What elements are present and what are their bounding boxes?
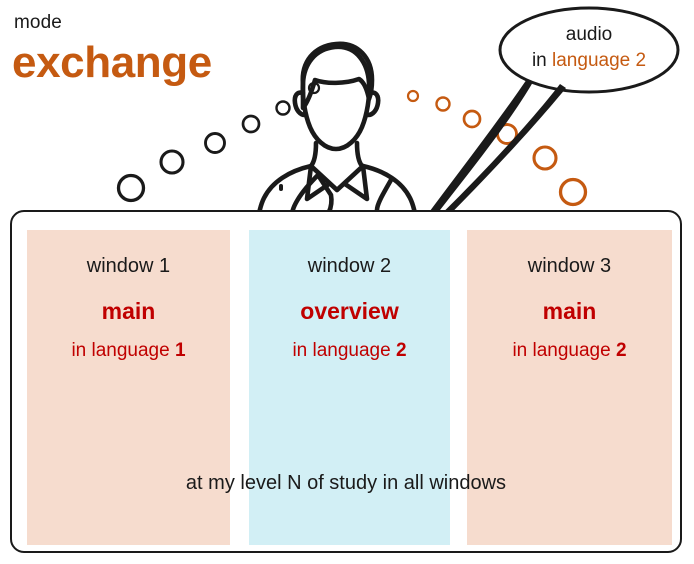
bubble-line-2: in language 2 <box>500 48 678 74</box>
level-note: at my level N of study in all windows <box>12 472 680 495</box>
orange-circle-trail-icon <box>408 91 586 205</box>
window-3-language-number: 2 <box>616 340 627 361</box>
window-1-kind: main <box>27 298 230 325</box>
window-2-title: window 2 <box>249 255 450 278</box>
window-3-kind: main <box>467 298 672 325</box>
bubble-line-1: audio <box>500 22 678 48</box>
window-2-language-number: 2 <box>396 340 407 361</box>
window-3-language-prefix: in language <box>512 340 616 361</box>
mode-label: mode <box>14 12 62 34</box>
window-1-language-number: 1 <box>175 340 186 361</box>
window-1-title: window 1 <box>27 255 230 278</box>
window-2-language-prefix: in language <box>292 340 396 361</box>
window-panel-3[interactable]: window 3 main in language 2 <box>467 230 672 545</box>
window-3-language: in language 2 <box>467 340 672 362</box>
window-panel-2[interactable]: window 2 overview in language 2 <box>249 230 450 545</box>
window-1-language-prefix: in language <box>71 340 175 361</box>
speech-bubble-text: audio in language 2 <box>500 22 678 74</box>
page-title: exchange <box>12 38 212 88</box>
window-1-language: in language 1 <box>27 340 230 362</box>
window-2-language: in language 2 <box>249 340 450 362</box>
window-3-title: window 3 <box>467 255 672 278</box>
bubble-line-2-accent: language 2 <box>552 50 646 71</box>
windows-panel: window 1 main in language 1 window 2 ove… <box>10 210 682 553</box>
bubble-line-2-prefix: in <box>532 50 552 71</box>
window-2-kind: overview <box>249 298 450 325</box>
black-circle-trail-icon <box>119 83 320 201</box>
window-panel-1[interactable]: window 1 main in language 1 <box>27 230 230 545</box>
